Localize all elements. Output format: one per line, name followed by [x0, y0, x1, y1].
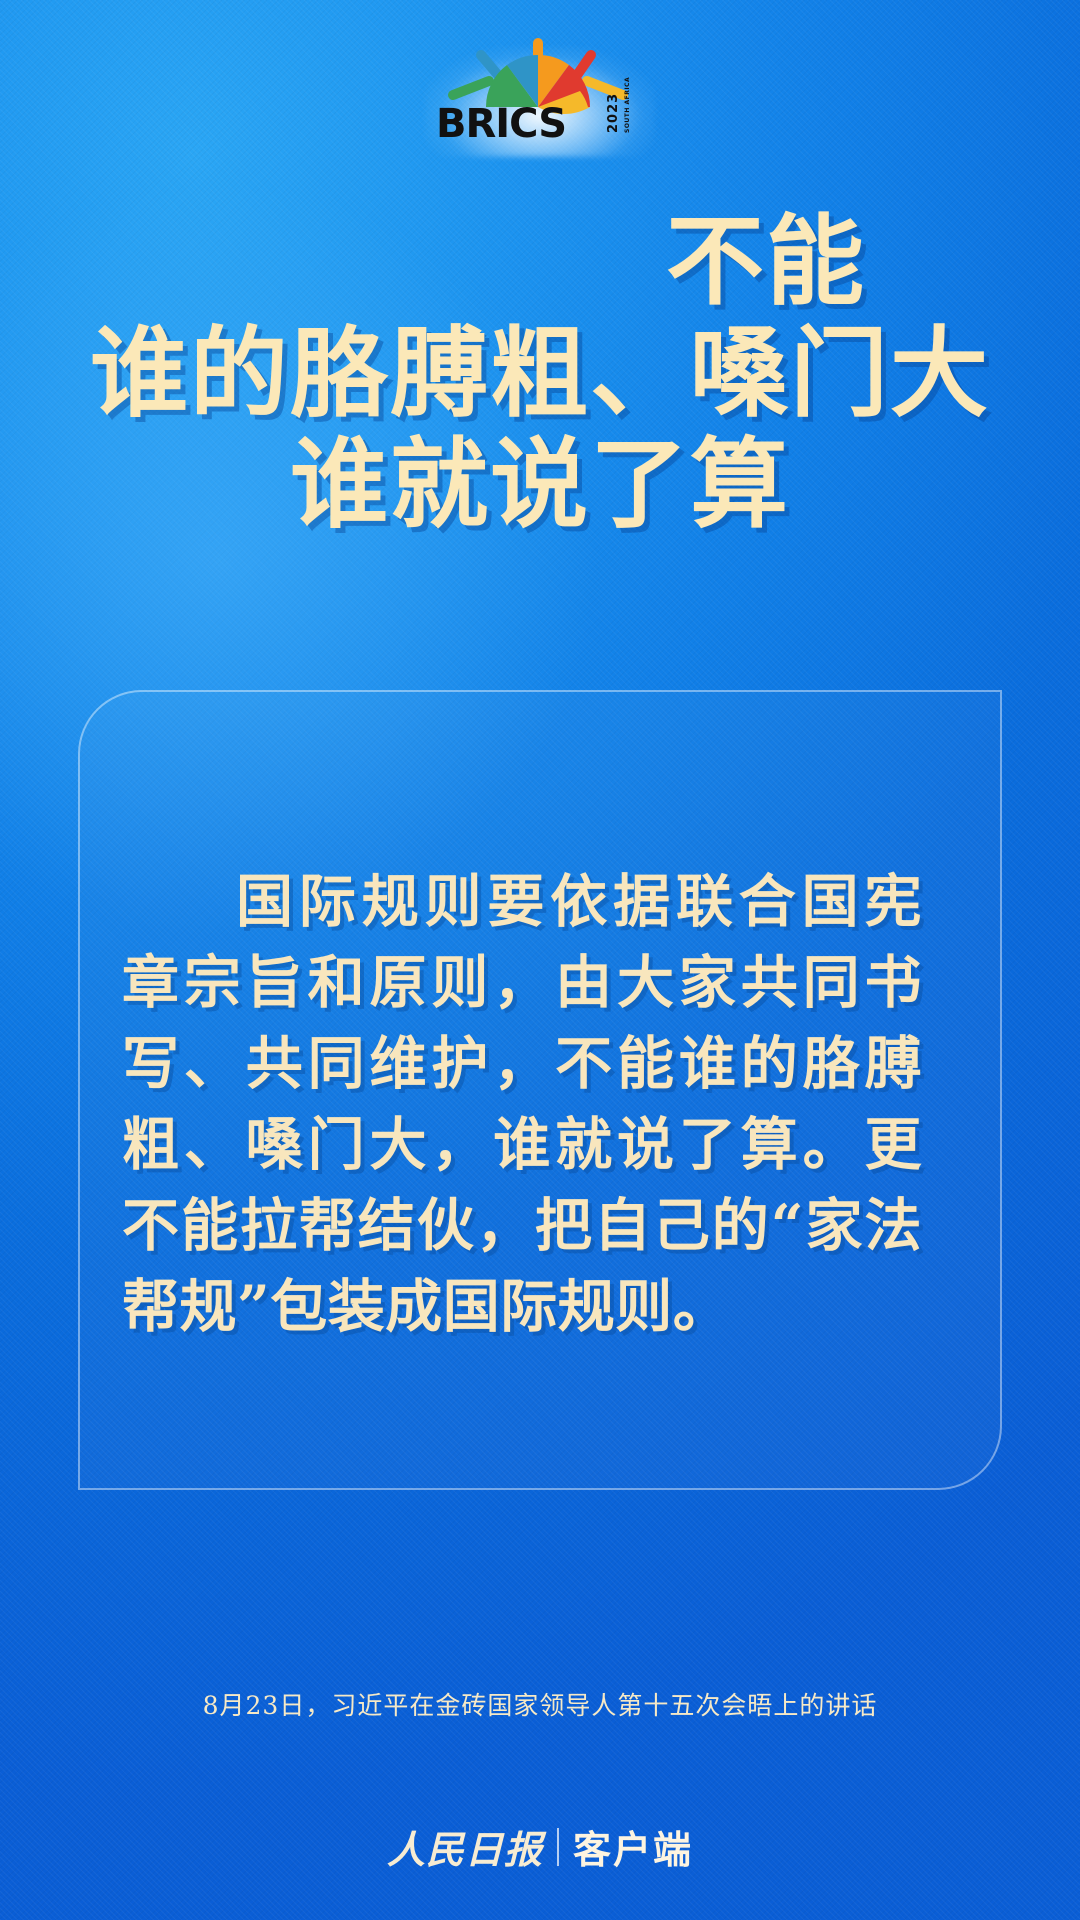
quote-attribution: 8月23日，习近平在金砖国家领导人第十五次会晤上的讲话: [78, 1686, 1002, 1722]
headline-line-2: 谁的胳膊粗、嗓门大: [62, 318, 1018, 430]
brics-logo-graphic: BRICS 2023 SOUTH AFRICA: [405, 29, 675, 141]
footer-branding: 人民日报 客户端: [0, 1819, 1080, 1874]
poster-root: BRICS 2023 SOUTH AFRICA 不能 谁的胳膊粗、嗓门大 谁就说…: [0, 0, 1080, 1920]
headline-line-3: 谁就说了算: [62, 429, 1018, 541]
brics-wordmark: BRICS: [436, 101, 566, 141]
brics-country: SOUTH AFRICA: [624, 77, 631, 133]
quote-text: 国际规则要依据联合国宪章宗旨和原则，由大家共同书写、共同维护，不能谁的胳膊粗、嗓…: [122, 862, 922, 1348]
publisher-logo: 人民日报: [387, 1819, 543, 1874]
brics-year: 2023: [606, 93, 621, 133]
product-name: 客户端: [573, 1819, 693, 1874]
footer-divider: [557, 1828, 559, 1866]
headline-line-1: 不能: [62, 206, 1018, 318]
page-title: 不能 谁的胳膊粗、嗓门大 谁就说了算: [62, 206, 1018, 541]
brics-logo: BRICS 2023 SOUTH AFRICA: [0, 26, 1080, 141]
